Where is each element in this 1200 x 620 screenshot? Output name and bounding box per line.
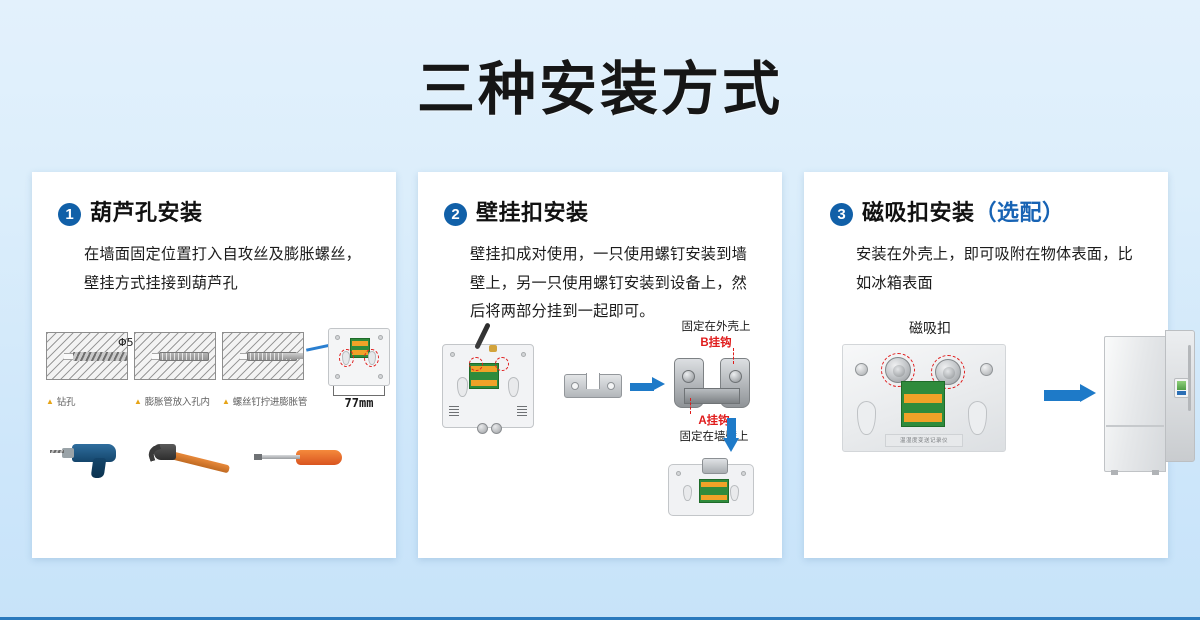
down-arrow-icon: [724, 418, 738, 454]
wall-hatch-icon: [46, 332, 128, 380]
device-label: [1177, 391, 1186, 395]
triangle-bullet-icon: ▲: [46, 397, 54, 406]
card-title: 壁挂扣安装: [476, 200, 589, 226]
screw-hole-icon: [521, 352, 526, 357]
card-header: 1 葫芦孔安装: [54, 200, 374, 226]
card-description: 安装在外壳上，即可吸附在物体表面，比如冰箱表面: [856, 241, 1146, 297]
device-rear-view: [442, 344, 534, 428]
step-label-text: 螺丝钉拧进膨胀管: [233, 394, 307, 408]
mount-foot-icon: [491, 423, 502, 434]
card-magnetic-mount[interactable]: 3 磁吸扣安装（选配） 安装在外壳上，即可吸附在物体表面，比如冰箱表面 磁吸扣 …: [804, 172, 1168, 558]
screw-hole-icon: [980, 363, 993, 376]
expansion-tube-icon: [159, 352, 209, 361]
right-arrow-icon: [1044, 388, 1098, 402]
device-model-strip: 温湿度变送记录仪: [885, 434, 963, 447]
card-header: 2 壁挂扣安装: [440, 200, 760, 226]
device-back-plate: 77mm: [328, 328, 390, 386]
label-clip-a-location: 固定在墙壁上: [654, 430, 774, 446]
clip-assembly: [674, 358, 750, 410]
card-number-badge: 3: [830, 203, 853, 226]
device-screen: [1177, 381, 1186, 390]
highlight-circle-icon: [495, 357, 509, 371]
screw-hole-icon: [741, 471, 746, 476]
label-clip-b-location: 固定在外壳上: [654, 320, 778, 336]
tools-row: [54, 436, 354, 488]
dimension-label: 77mm: [328, 396, 390, 410]
card-number-badge: 2: [444, 203, 467, 226]
triangle-bullet-icon: ▲: [134, 397, 142, 406]
card-description: 壁挂扣成对使用，一只使用螺钉安装到墙壁上，另一只使用螺钉安装到设备上，然后将两部…: [470, 241, 760, 325]
fridge-door-divider: [1106, 425, 1164, 427]
step-label-text: 膨胀管放入孔内: [145, 394, 210, 408]
highlight-circle-icon: [339, 349, 354, 367]
card-title-text: 葫芦孔安装: [90, 200, 203, 225]
highlight-circle-icon: [469, 357, 483, 371]
fridge-front: [1104, 336, 1166, 472]
page-title: 三种安装方式: [0, 42, 1200, 126]
card-number-badge: 1: [58, 203, 81, 226]
keyhole-slot-icon: [730, 485, 739, 501]
right-arrow-icon: [630, 380, 666, 390]
mounted-device: [1174, 378, 1189, 398]
step-anchor: ▲ 膨胀管放入孔内: [134, 332, 216, 408]
keyhole-slot-icon: [968, 401, 987, 435]
attached-clip: [702, 458, 728, 474]
card-wall-clip-mount[interactable]: 2 壁挂扣安装 壁挂扣成对使用，一只使用螺钉安装到墙壁上，另一只使用螺钉安装到设…: [418, 172, 782, 558]
screw-hole-icon: [450, 352, 455, 357]
device-back-photo: 温湿度变送记录仪: [842, 344, 1006, 452]
screw-hole-icon: [378, 335, 383, 340]
terminal-block-icon: [699, 479, 729, 503]
keyhole-slot-icon: [457, 377, 468, 397]
refrigerator-icon: [1104, 330, 1196, 472]
leader-line: [733, 348, 734, 364]
step-label-text: 钻孔: [57, 394, 76, 408]
installation-methods-container: 1 葫芦孔安装 在墙面固定位置打入自攻丝及膨胀螺丝，壁挂方式挂接到葫芦孔 Φ5 …: [32, 172, 1168, 558]
diameter-label: Φ5: [118, 336, 134, 349]
drill-bit-icon: [73, 352, 128, 361]
clip-screw-hole-icon: [607, 382, 615, 390]
mounted-result: [668, 464, 754, 516]
wall-clip-illustration: 固定在外壳上 B挂钩 A挂钩 固定在墙壁上: [418, 322, 782, 542]
wall-hatch-icon: [134, 332, 216, 380]
clip-stud-icon: [729, 370, 742, 383]
clip-bridge: [684, 388, 740, 404]
highlight-circle-icon: [364, 349, 379, 367]
screw-icon: [283, 353, 304, 359]
device-body: [328, 328, 390, 386]
screw-hole-icon: [855, 363, 868, 376]
wall-hatch-icon: [222, 332, 304, 380]
wall-clip-pair: [564, 374, 622, 398]
terminal-block-icon: [901, 381, 945, 427]
card-title-text: 磁吸扣安装: [862, 200, 975, 225]
clip-stud-icon: [682, 370, 695, 383]
label-clip-a-name: A挂钩: [654, 414, 774, 430]
step-drill: Φ5 ▲ 钻孔: [46, 332, 128, 408]
mount-foot-icon: [477, 423, 488, 434]
step-label: ▲ 膨胀管放入孔内: [134, 394, 216, 408]
screw-hole-icon: [335, 335, 340, 340]
vent-icon: [517, 406, 527, 417]
clip-screw-hole-icon: [571, 382, 579, 390]
magnet-caption: 磁吸扣: [860, 318, 1000, 338]
card-header: 3 磁吸扣安装（选配）: [826, 200, 1146, 226]
card-title: 磁吸扣安装（选配）: [862, 200, 1065, 226]
dimension-line: [333, 386, 385, 396]
step-screw: ▲ 螺丝钉拧进膨胀管: [222, 332, 304, 408]
triangle-bullet-icon: ▲: [222, 397, 230, 406]
step-label: ▲ 钻孔: [46, 394, 128, 408]
drilling-steps: Φ5 ▲ 钻孔 ▲ 膨胀管放入孔内: [46, 332, 386, 408]
keyhole-slot-icon: [857, 401, 876, 435]
card-title-text: 壁挂扣安装: [476, 200, 589, 225]
keyhole-slot-icon: [683, 485, 692, 501]
label-clip-b: 固定在外壳上 B挂钩: [654, 320, 778, 351]
screw-hole-icon: [378, 374, 383, 379]
screw-hole-icon: [335, 374, 340, 379]
card-title: 葫芦孔安装: [90, 200, 203, 226]
magnetic-mount-illustration: 磁吸扣 温湿度变送记录仪: [804, 318, 1168, 498]
card-hole-mount[interactable]: 1 葫芦孔安装 在墙面固定位置打入自攻丝及膨胀螺丝，壁挂方式挂接到葫芦孔 Φ5 …: [32, 172, 396, 558]
vent-icon: [449, 406, 459, 417]
step-label: ▲ 螺丝钉拧进膨胀管: [222, 394, 304, 408]
screwdriver-icon: [254, 436, 354, 482]
leader-line: [690, 398, 691, 414]
hammer-icon: [140, 436, 240, 482]
hole-mount-illustration: Φ5 ▲ 钻孔 ▲ 膨胀管放入孔内: [46, 332, 386, 408]
keyhole-slot-icon: [508, 377, 519, 397]
label-clip-a: A挂钩 固定在墙壁上: [654, 414, 774, 445]
clip-notch: [586, 373, 600, 389]
label-clip-b-name: B挂钩: [654, 336, 778, 352]
card-title-optional: （选配）: [975, 200, 1065, 225]
antenna-base-icon: [489, 345, 497, 352]
card-description: 在墙面固定位置打入自攻丝及膨胀螺丝，壁挂方式挂接到葫芦孔: [84, 241, 374, 297]
device-body: [442, 344, 534, 428]
screw-hole-icon: [676, 471, 681, 476]
electric-drill-icon: [54, 436, 124, 482]
